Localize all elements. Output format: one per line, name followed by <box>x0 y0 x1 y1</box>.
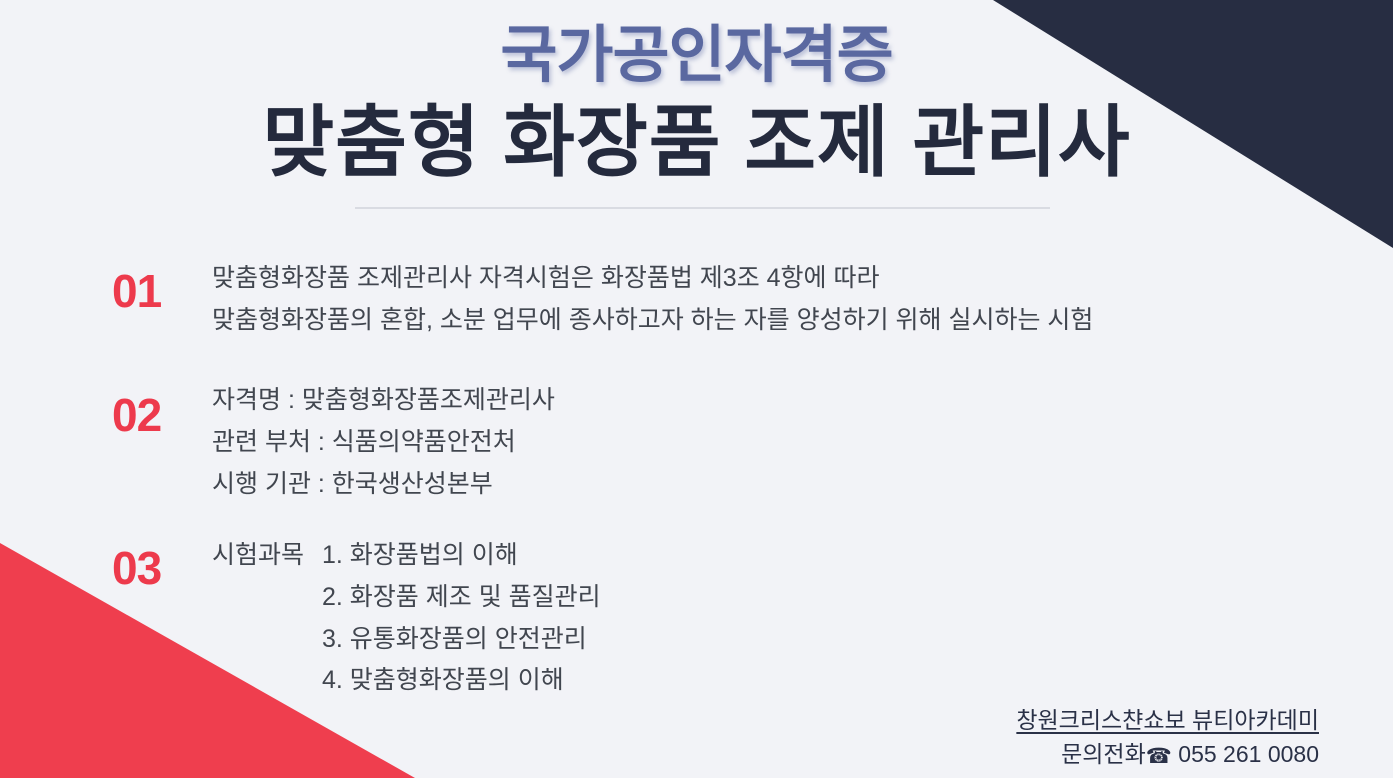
contact-label: 문의전화 <box>1061 741 1146 767</box>
subject-item: 2. 화장품 제조 및 품질관리 <box>322 577 601 619</box>
phone-number: 055 261 0080 <box>1178 741 1319 767</box>
item-line: 관련 부처 : 식품의약품안전처 <box>212 422 555 464</box>
items-container: 01 맞춤형화장품 조제관리사 자격시험은 화장품법 제3조 4항에 따라 맞춤… <box>0 0 1393 778</box>
telephone-icon: ☎ <box>1146 744 1172 768</box>
item-number-03: 03 <box>112 535 212 591</box>
item-line: 자격명 : 맞춤형화장품조제관리사 <box>212 380 555 422</box>
item-line: 맞춤형화장품의 혼합, 소분 업무에 종사하고자 하는 자를 양성하기 위해 실… <box>212 300 1093 342</box>
item-body-03: 시험과목 1. 화장품법의 이해 2. 화장품 제조 및 품질관리 3. 유통화… <box>212 535 601 702</box>
subject-item: 3. 유통화장품의 안전관리 <box>322 619 601 661</box>
item-line: 시행 기관 : 한국생산성본부 <box>212 464 555 506</box>
subject-item: 4. 맞춤형화장품의 이해 <box>322 660 601 702</box>
item-body-02: 자격명 : 맞춤형화장품조제관리사 관련 부처 : 식품의약품안전처 시행 기관… <box>212 380 555 505</box>
list-item: 02 자격명 : 맞춤형화장품조제관리사 관련 부처 : 식품의약품안전처 시행… <box>112 380 555 505</box>
list-item: 03 시험과목 1. 화장품법의 이해 2. 화장품 제조 및 품질관리 3. … <box>112 535 601 702</box>
subject-wrapper: 시험과목 1. 화장품법의 이해 2. 화장품 제조 및 품질관리 3. 유통화… <box>212 535 601 702</box>
item-number-02: 02 <box>112 380 212 438</box>
exam-subjects-label: 시험과목 <box>212 535 322 577</box>
item-body-01: 맞춤형화장품 조제관리사 자격시험은 화장품법 제3조 4항에 따라 맞춤형화장… <box>212 258 1093 342</box>
certification-poster: 국가공인자격증 맞춤형 화장품 조제 관리사 01 맞춤형화장품 조제관리사 자… <box>0 0 1393 778</box>
list-item: 01 맞춤형화장품 조제관리사 자격시험은 화장품법 제3조 4항에 따라 맞춤… <box>112 258 1093 342</box>
item-line: 맞춤형화장품 조제관리사 자격시험은 화장품법 제3조 4항에 따라 <box>212 258 1093 300</box>
footer-contact-block: 창원크리스챤쇼보 뷰티아카데미 문의전화☎ 055 261 0080 <box>1016 706 1319 770</box>
item-number-01: 01 <box>112 258 212 314</box>
subject-item: 1. 화장품법의 이해 <box>322 535 601 577</box>
academy-name: 창원크리스챤쇼보 뷰티아카데미 <box>1016 706 1319 736</box>
contact-line: 문의전화☎ 055 261 0080 <box>1016 740 1319 770</box>
exam-subjects-list: 1. 화장품법의 이해 2. 화장품 제조 및 품질관리 3. 유통화장품의 안… <box>322 535 601 702</box>
